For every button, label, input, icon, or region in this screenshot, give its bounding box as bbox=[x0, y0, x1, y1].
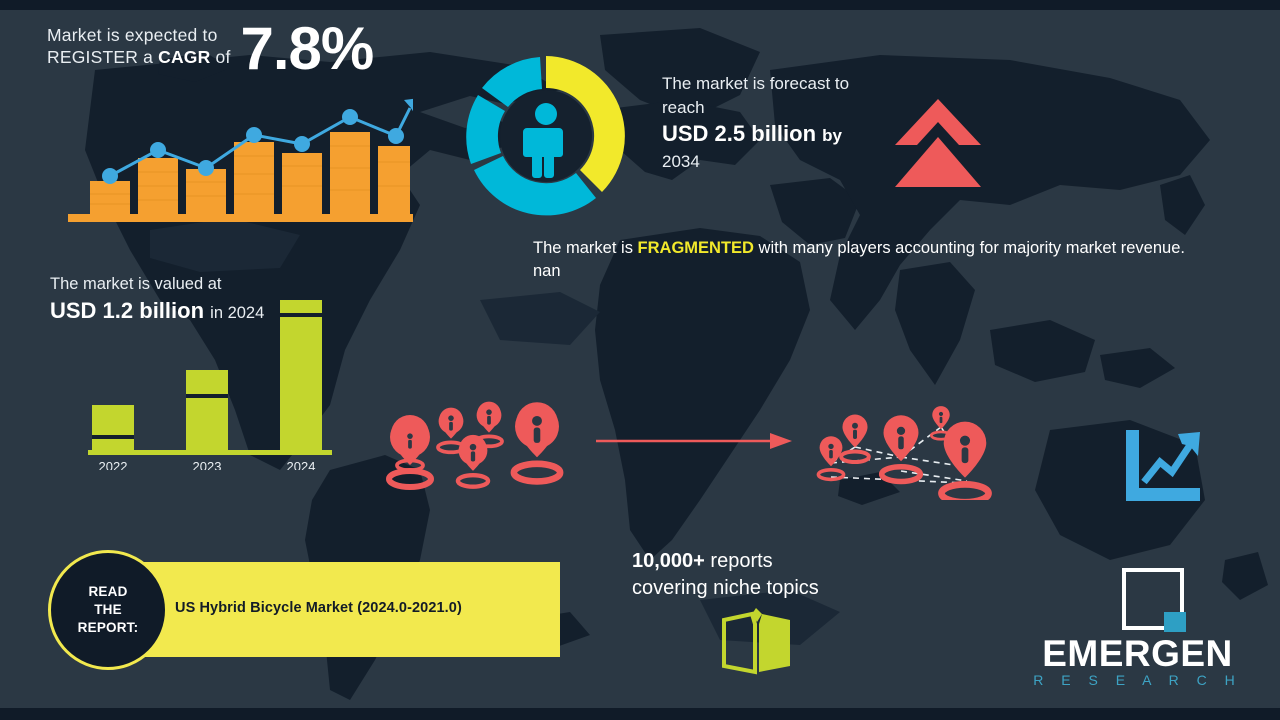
donut-segment-cyan-2 bbox=[466, 95, 505, 164]
emergen-research-logo: EMERGEN R E S E A R C H bbox=[1020, 568, 1255, 700]
fragmented-highlight: FRAGMENTED bbox=[638, 239, 754, 257]
cta-line2: THE bbox=[94, 602, 122, 617]
valued-label: The market is valued at bbox=[50, 275, 222, 293]
double-chevron-up-icon bbox=[893, 97, 983, 189]
logo-square-accent bbox=[1164, 612, 1186, 632]
forecast-value: USD 2.5 billion bbox=[662, 121, 816, 146]
growth-bar-line-chart bbox=[68, 86, 413, 222]
value-bars bbox=[92, 300, 322, 453]
map-pin-network-right bbox=[805, 385, 1020, 500]
fragmentation-statement: The market is FRAGMENTED with many playe… bbox=[533, 237, 1213, 283]
read-report-button[interactable]: READTHEREPORT: bbox=[48, 550, 168, 670]
cagr-line2-post: of bbox=[210, 47, 230, 67]
forecast-line1: The market is forecast to bbox=[662, 74, 849, 93]
forecast-year: 2034 bbox=[662, 152, 700, 171]
reports-line2: covering niche topics bbox=[632, 577, 819, 599]
line-chart-arrow-icon bbox=[1122, 428, 1204, 504]
forecast-by: by bbox=[822, 126, 842, 145]
map-pin-cluster-left bbox=[385, 385, 585, 495]
logo-subtitle: R E S E A R C H bbox=[1020, 672, 1255, 688]
bar-label-2023: 2023 bbox=[193, 459, 222, 470]
bar-label-2022: 2022 bbox=[99, 459, 128, 470]
market-value-bars-chart: 2022 2023 2024 bbox=[80, 295, 340, 470]
cta-line3: REPORT: bbox=[78, 620, 139, 635]
open-book-icon bbox=[722, 608, 792, 676]
forecast-block: The market is forecast to reach USD 2.5 … bbox=[662, 72, 892, 174]
bar-2022 bbox=[92, 405, 134, 453]
market-share-donut bbox=[466, 52, 626, 220]
infographic-canvas: Market is expected to REGISTER a CAGR of… bbox=[0, 0, 1280, 720]
right-arrow-icon bbox=[596, 430, 796, 452]
chart-bars bbox=[90, 132, 410, 214]
reports-count: 10,000+ bbox=[632, 550, 705, 572]
fragmented-pre: The market is bbox=[533, 239, 638, 257]
cagr-block: Market is expected to REGISTER a CAGR of… bbox=[47, 20, 373, 78]
bar-label-2024: 2024 bbox=[287, 459, 316, 470]
reports-count-block: 10,000+ reports covering niche topics bbox=[632, 548, 819, 602]
chart-baseline bbox=[68, 214, 413, 222]
read-report-label: READTHEREPORT: bbox=[78, 583, 139, 637]
cagr-label: Market is expected to REGISTER a CAGR of bbox=[47, 20, 231, 68]
cagr-keyword: CAGR bbox=[158, 47, 210, 67]
report-title: US Hybrid Bicycle Market (2024.0-2021.0) bbox=[175, 600, 462, 616]
bars-baseline bbox=[88, 450, 332, 455]
bar-2023 bbox=[186, 370, 228, 453]
forecast-line2: reach bbox=[662, 98, 705, 117]
logo-name: EMERGEN bbox=[1020, 634, 1255, 674]
cta-line1: READ bbox=[88, 584, 127, 599]
reports-line1-rest: reports bbox=[705, 550, 773, 572]
cagr-value: 7.8% bbox=[241, 20, 374, 78]
forecast-value-row: USD 2.5 billion by bbox=[662, 120, 892, 150]
cagr-line2-pre: REGISTER a bbox=[47, 47, 158, 67]
cagr-line1: Market is expected to bbox=[47, 25, 218, 45]
bar-2024 bbox=[280, 300, 322, 453]
